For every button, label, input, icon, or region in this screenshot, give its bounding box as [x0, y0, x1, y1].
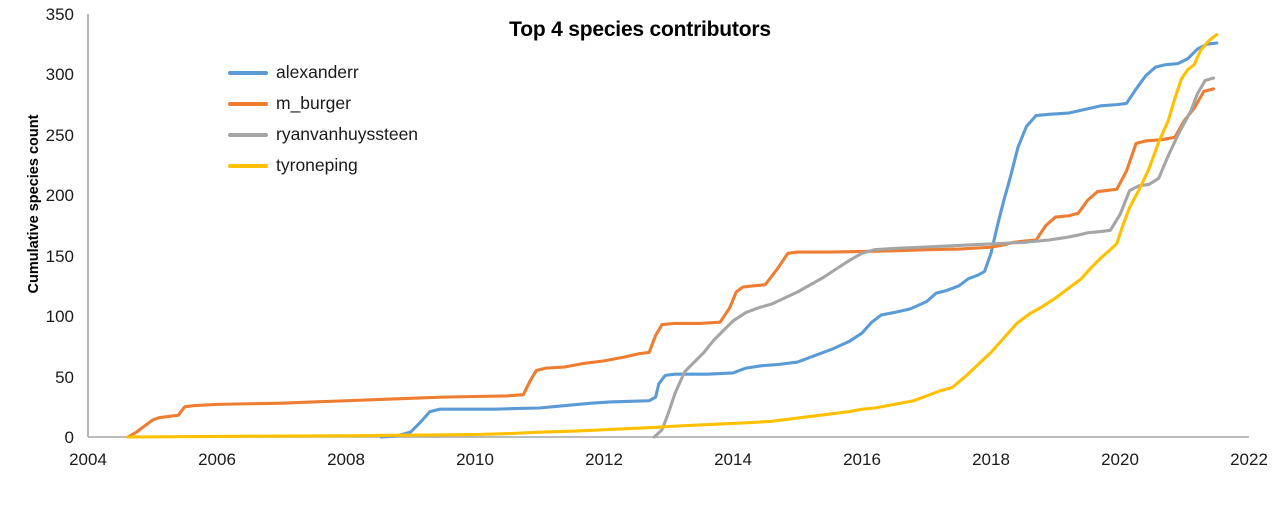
- series-line-alexanderr[interactable]: [381, 43, 1216, 437]
- chart-container: Top 4 species contributors Cumulative sp…: [0, 0, 1280, 517]
- series-line-ryanvanhuyssteen[interactable]: [654, 78, 1213, 437]
- plot-area: [0, 0, 1280, 517]
- series-lines: [128, 35, 1217, 437]
- series-line-m_burger[interactable]: [128, 89, 1214, 437]
- series-line-tyroneping[interactable]: [128, 35, 1217, 437]
